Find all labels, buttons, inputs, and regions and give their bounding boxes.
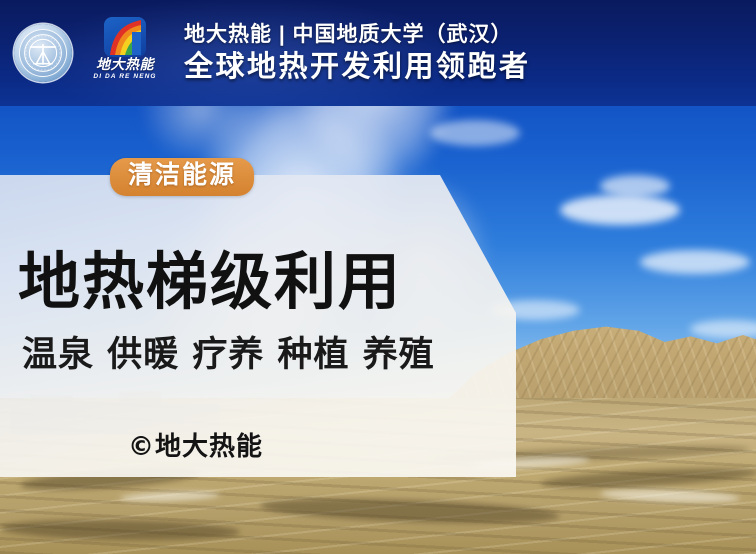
cloud-shape (560, 195, 680, 225)
didareneng-logo-icon (104, 17, 146, 57)
header-line-1: 地大热能 | 中国地质大学（武汉） (184, 22, 531, 48)
brand-logo-en-text: DI DA RE NENG (93, 73, 156, 80)
clean-energy-badge: 清洁能源 (110, 158, 254, 196)
header-text-block: 地大热能 | 中国地质大学（武汉） 全球地热开发利用领跑者 (184, 22, 531, 84)
brand-logo-cn-text: 地大热能 (96, 58, 154, 73)
cloud-shape (600, 175, 670, 197)
header-bar: 地大热能 DI DA RE NENG 地大热能 | 中国地质大学（武汉） 全球地… (0, 0, 756, 106)
poster-main-title: 地热梯级利用 (18, 248, 402, 316)
university-seal-icon (14, 24, 72, 82)
poster-canvas: 地大热能 DI DA RE NENG 地大热能 | 中国地质大学（武汉） 全球地… (0, 0, 756, 554)
header-line-2: 全球地热开发利用领跑者 (184, 50, 531, 84)
copyright-credit: ©地大热能 (128, 432, 263, 463)
cloud-shape (640, 250, 750, 274)
seal-emblem-mark (14, 24, 72, 82)
poster-subtitle: 温泉 供暖 疗养 种植 养殖 (22, 335, 435, 375)
brand-logo: 地大热能 DI DA RE NENG (82, 17, 168, 89)
